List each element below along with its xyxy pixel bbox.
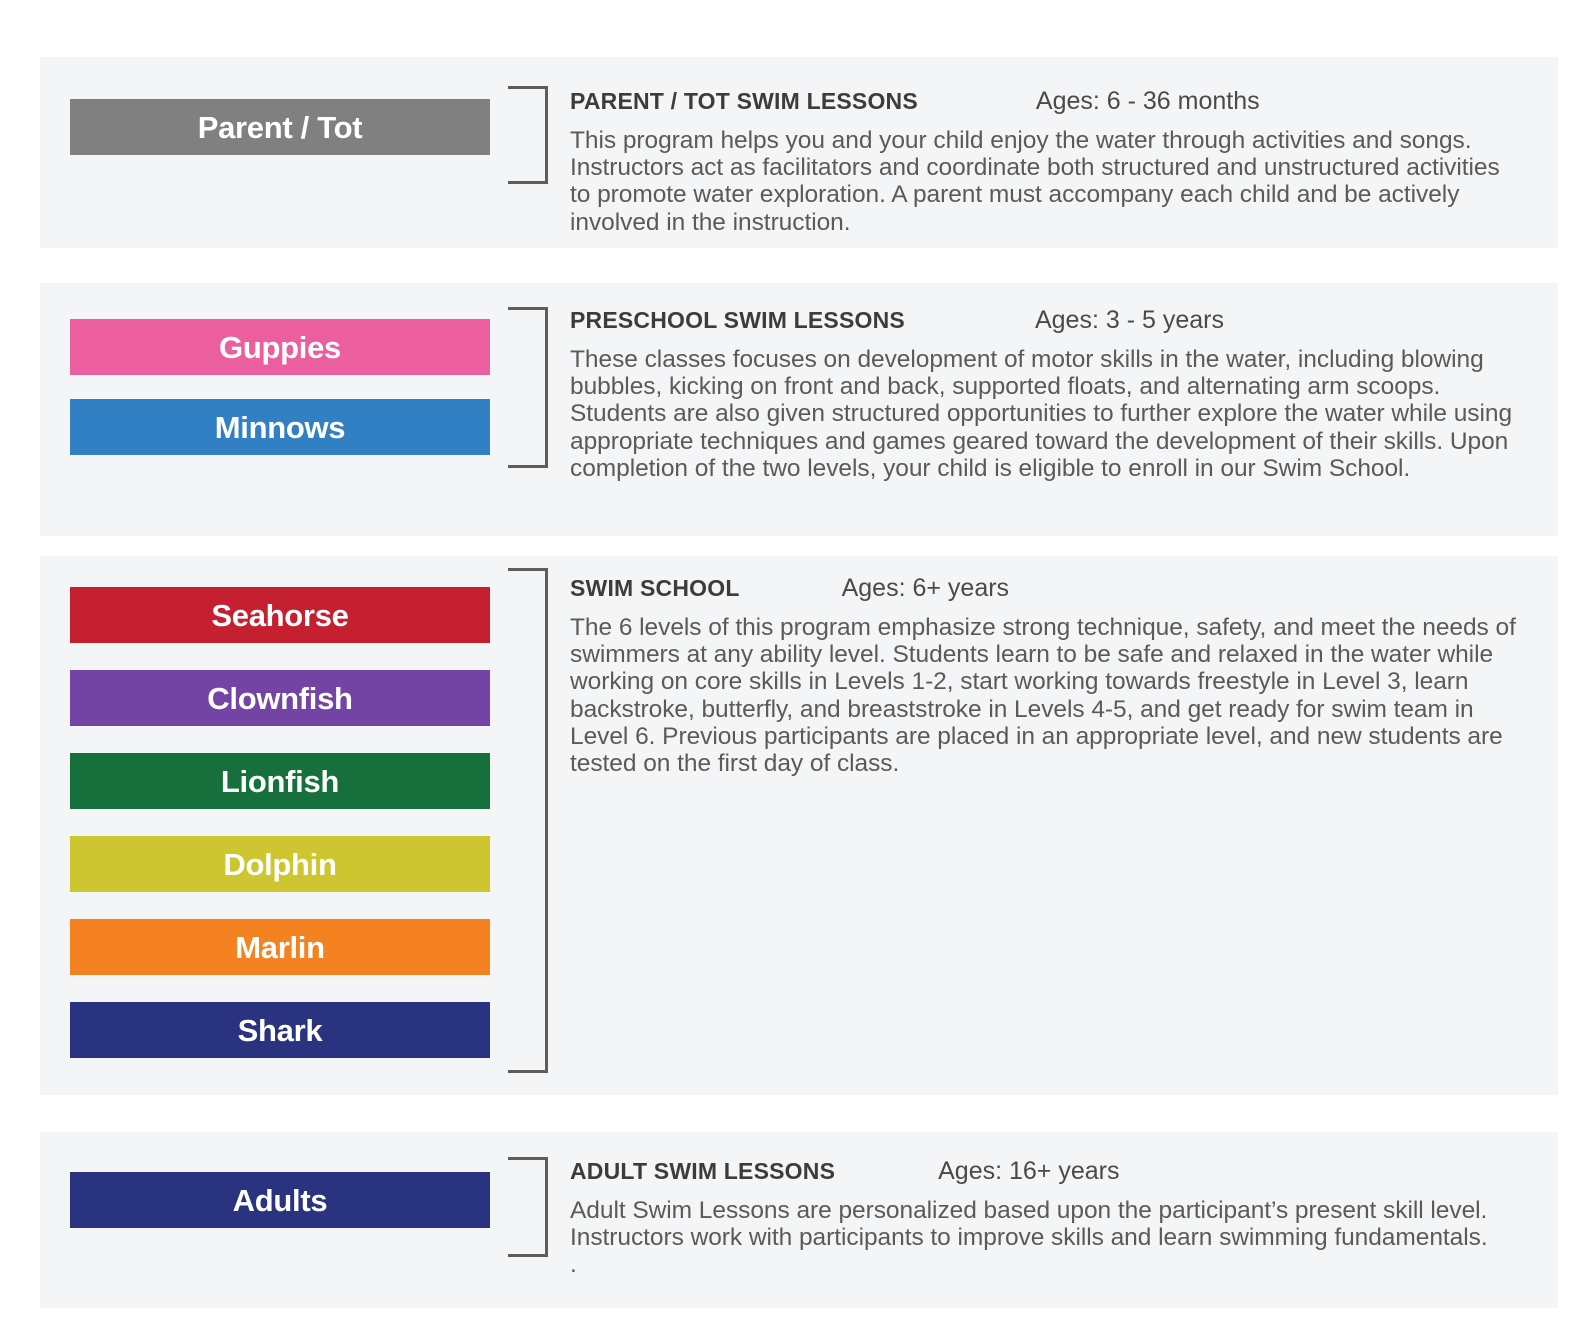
program-age-range: Ages: 3 - 5 years bbox=[1035, 306, 1224, 335]
swim-program-infographic: Parent / Tot PARENT / TOT SWIM LESSONS A… bbox=[0, 0, 1584, 1336]
level-bar-group-preschool: Guppies Minnows bbox=[40, 283, 492, 455]
level-bar-parent-tot[interactable]: Parent / Tot bbox=[70, 99, 490, 155]
program-card-preschool: Guppies Minnows PRESCHOOL SWIM LESSONS A… bbox=[40, 283, 1558, 536]
bracket-column bbox=[492, 556, 570, 1095]
bracket-icon bbox=[508, 1157, 548, 1257]
level-bar-group-adults: Adults bbox=[40, 1132, 492, 1228]
program-age-range: Ages: 6 - 36 months bbox=[1036, 87, 1260, 116]
level-bar-lionfish[interactable]: Lionfish bbox=[70, 753, 490, 809]
bracket-column bbox=[492, 283, 570, 536]
level-bar-clownfish[interactable]: Clownfish bbox=[70, 670, 490, 726]
level-bar-label: Seahorse bbox=[211, 600, 348, 631]
program-heading-row: ADULT SWIM LESSONS Ages: 16+ years bbox=[570, 1157, 1524, 1186]
program-card-adults: Adults ADULT SWIM LESSONS Ages: 16+ year… bbox=[40, 1132, 1558, 1308]
program-heading-row: PRESCHOOL SWIM LESSONS Ages: 3 - 5 years bbox=[570, 306, 1524, 335]
program-heading-row: PARENT / TOT SWIM LESSONS Ages: 6 - 36 m… bbox=[570, 87, 1524, 116]
bracket-column bbox=[492, 57, 570, 248]
bracket-column bbox=[492, 1132, 570, 1308]
level-bar-label: Adults bbox=[233, 1185, 328, 1216]
program-heading-row: SWIM SCHOOL Ages: 6+ years bbox=[570, 574, 1524, 603]
level-bar-dolphin[interactable]: Dolphin bbox=[70, 836, 490, 892]
program-title: ADULT SWIM LESSONS bbox=[570, 1158, 835, 1185]
level-bar-label: Minnows bbox=[215, 412, 346, 443]
program-description: The 6 levels of this program emphasize s… bbox=[570, 614, 1520, 777]
program-description: Adult Swim Lessons are personalized base… bbox=[570, 1197, 1512, 1251]
program-title: PRESCHOOL SWIM LESSONS bbox=[570, 307, 905, 334]
level-bar-adults[interactable]: Adults bbox=[70, 1172, 490, 1228]
level-bar-label: Dolphin bbox=[223, 849, 336, 880]
program-card-swim-school: Seahorse Clownfish Lionfish Dolphin Marl… bbox=[40, 556, 1558, 1095]
bracket-icon bbox=[508, 86, 548, 184]
level-bar-label: Marlin bbox=[235, 932, 325, 963]
program-age-range: Ages: 16+ years bbox=[938, 1157, 1119, 1186]
program-title: SWIM SCHOOL bbox=[570, 575, 740, 602]
program-text-parent-tot: PARENT / TOT SWIM LESSONS Ages: 6 - 36 m… bbox=[570, 57, 1558, 236]
bracket-icon bbox=[508, 568, 548, 1073]
program-age-range: Ages: 6+ years bbox=[842, 574, 1009, 603]
program-title: PARENT / TOT SWIM LESSONS bbox=[570, 88, 918, 115]
program-text-adults: ADULT SWIM LESSONS Ages: 16+ years Adult… bbox=[570, 1132, 1558, 1279]
program-card-parent-tot: Parent / Tot PARENT / TOT SWIM LESSONS A… bbox=[40, 57, 1558, 248]
program-description: These classes focuses on development of … bbox=[570, 346, 1518, 482]
level-bar-label: Guppies bbox=[219, 332, 341, 363]
level-bar-label: Shark bbox=[238, 1015, 323, 1046]
bracket-icon bbox=[508, 307, 548, 468]
level-bar-minnows[interactable]: Minnows bbox=[70, 399, 490, 455]
level-bar-group-swim-school: Seahorse Clownfish Lionfish Dolphin Marl… bbox=[40, 556, 492, 1058]
level-bar-shark[interactable]: Shark bbox=[70, 1002, 490, 1058]
level-bar-label: Lionfish bbox=[221, 766, 339, 797]
trailing-period: . bbox=[570, 1251, 1524, 1278]
level-bar-seahorse[interactable]: Seahorse bbox=[70, 587, 490, 643]
level-bar-label: Parent / Tot bbox=[198, 112, 363, 143]
level-bar-marlin[interactable]: Marlin bbox=[70, 919, 490, 975]
program-description: This program helps you and your child en… bbox=[570, 127, 1524, 236]
level-bar-guppies[interactable]: Guppies bbox=[70, 319, 490, 375]
level-bar-group-parent-tot: Parent / Tot bbox=[40, 57, 492, 155]
program-text-preschool: PRESCHOOL SWIM LESSONS Ages: 3 - 5 years… bbox=[570, 283, 1558, 482]
program-text-swim-school: SWIM SCHOOL Ages: 6+ years The 6 levels … bbox=[570, 556, 1558, 777]
level-bar-label: Clownfish bbox=[207, 683, 352, 714]
